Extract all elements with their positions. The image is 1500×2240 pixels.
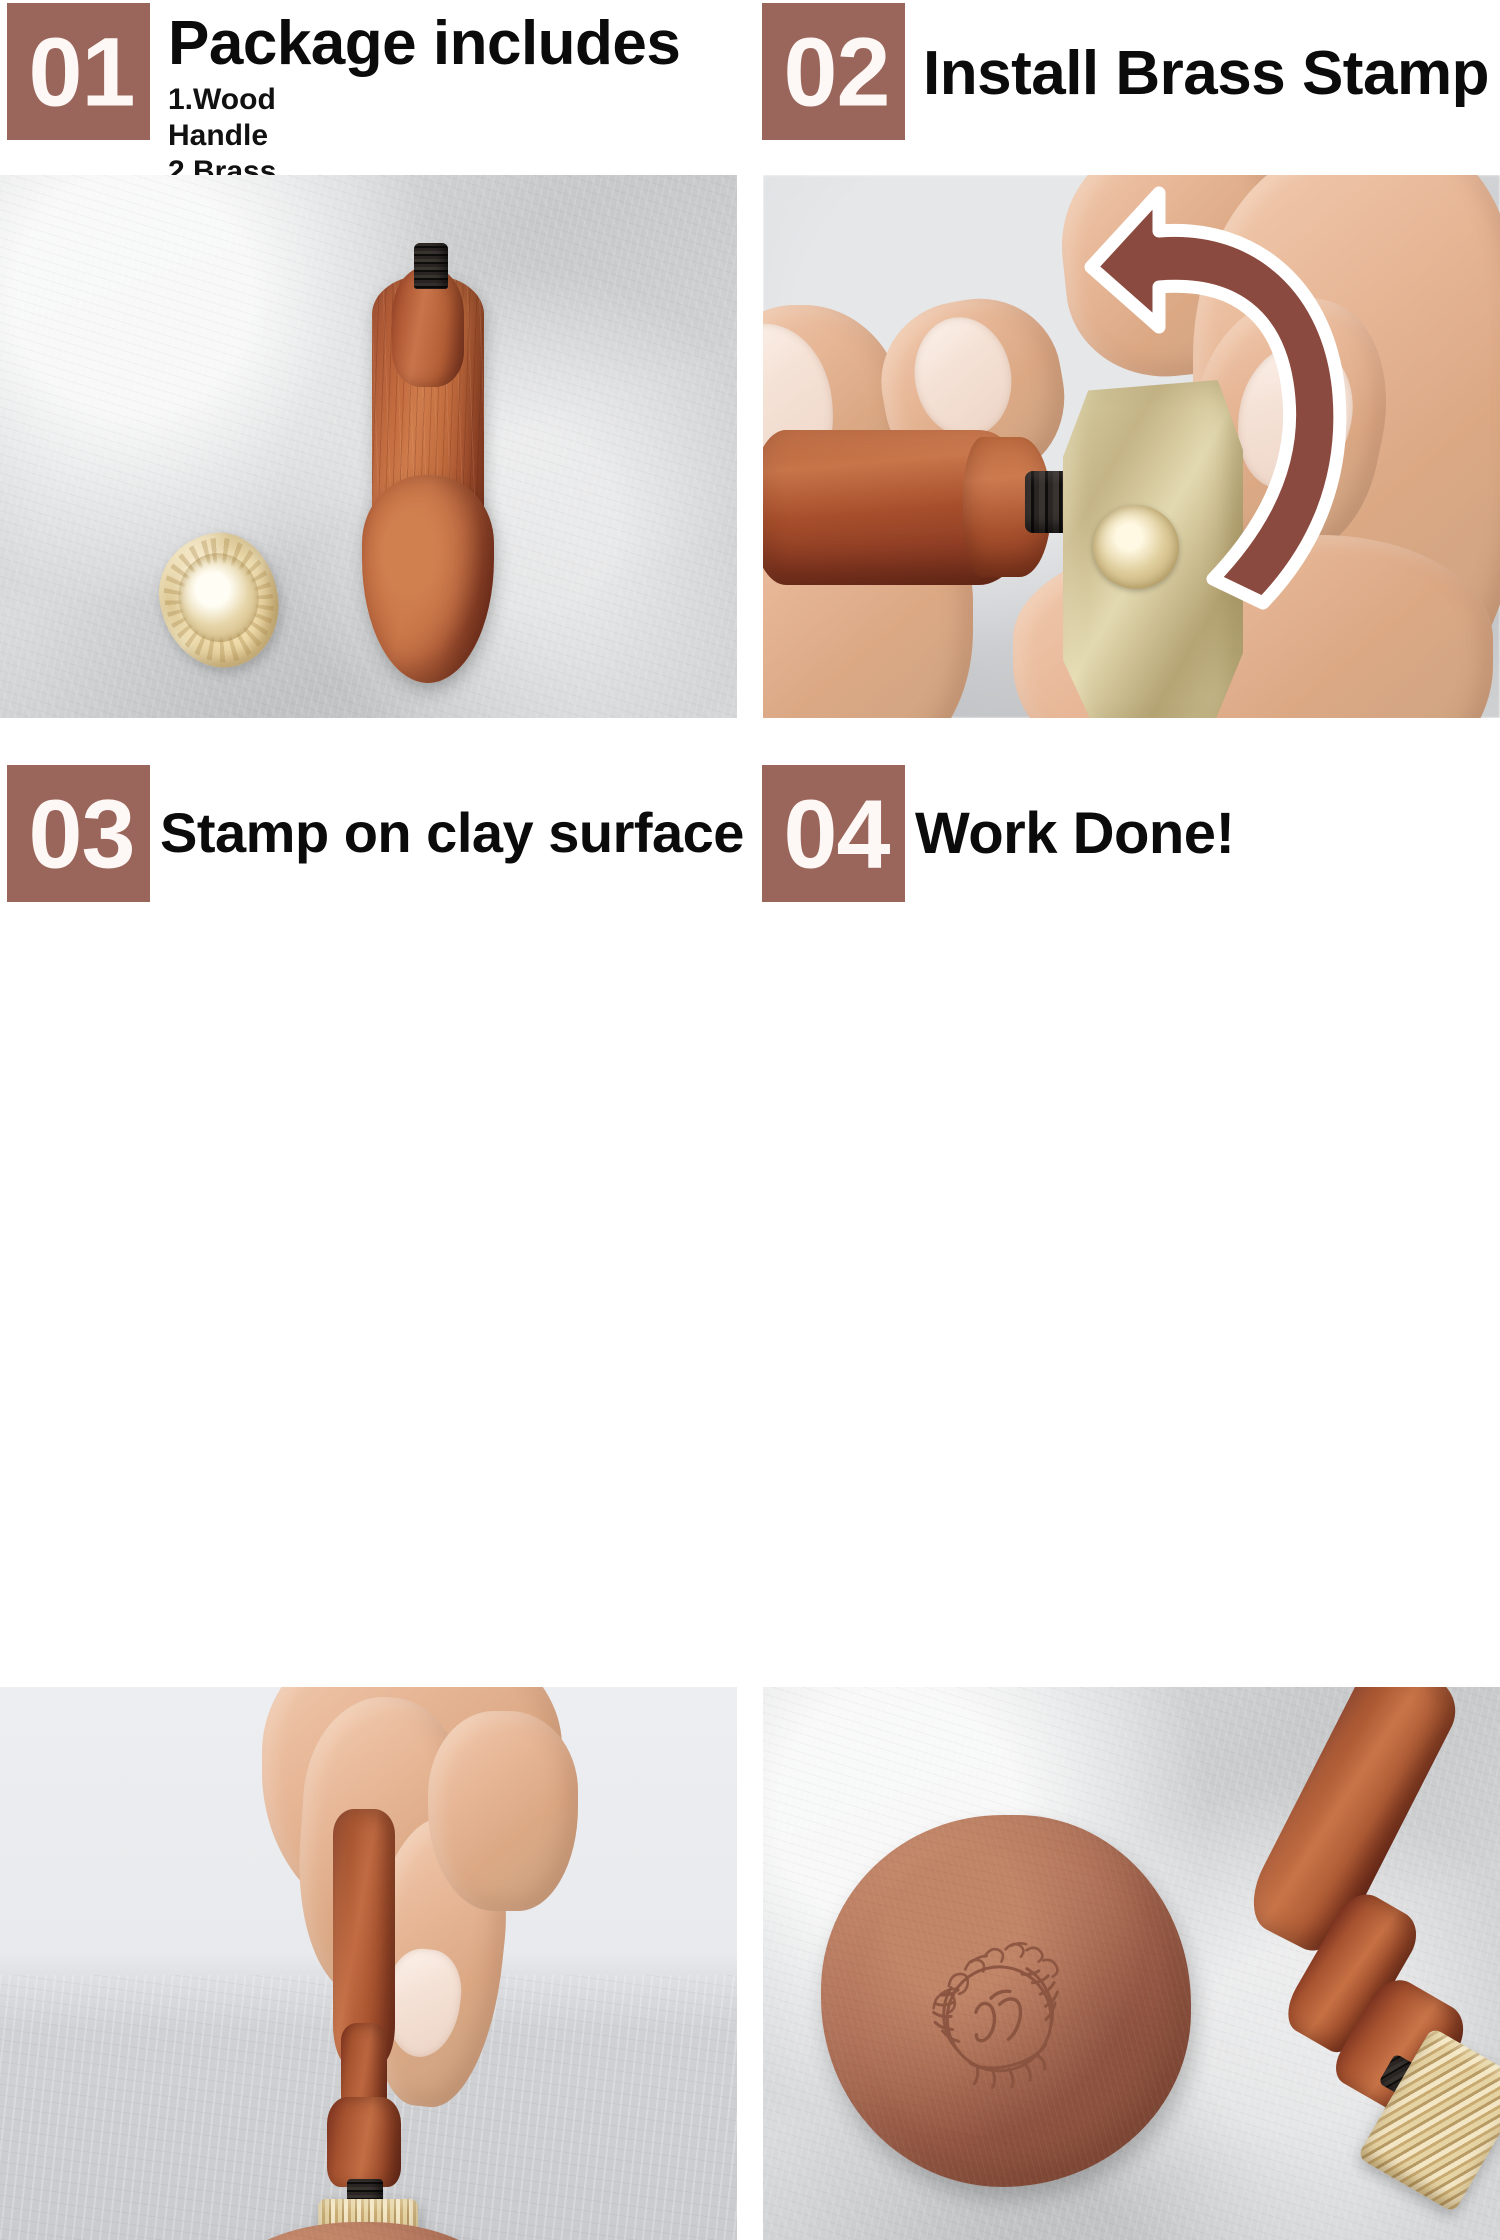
step-number-01: 01 (7, 23, 156, 120)
threaded-screw (414, 243, 448, 289)
rotation-arrow (1063, 175, 1393, 645)
wood-handle-flare (327, 2097, 401, 2187)
rotation-arrow-icon (1063, 175, 1393, 645)
step-number-04: 04 (762, 785, 911, 882)
step-photo-02 (763, 175, 1500, 718)
hand-knuckle (428, 1711, 578, 1911)
step-number-02: 02 (762, 23, 911, 120)
step-photo-04 (763, 1687, 1500, 2240)
concrete-background (0, 175, 737, 718)
step-photo-03 (0, 1687, 737, 2240)
step-photo-01 (0, 175, 737, 718)
infographic-sheet: 01 Package includes 1.Wood Handle 2.Bras… (0, 0, 1500, 1478)
step-badge-01: 01 (7, 3, 150, 140)
step-badge-04: 04 (762, 765, 905, 902)
step-badge-03: 03 (7, 765, 150, 902)
step-badge-02: 02 (762, 3, 905, 140)
step-number-03: 03 (7, 785, 156, 882)
